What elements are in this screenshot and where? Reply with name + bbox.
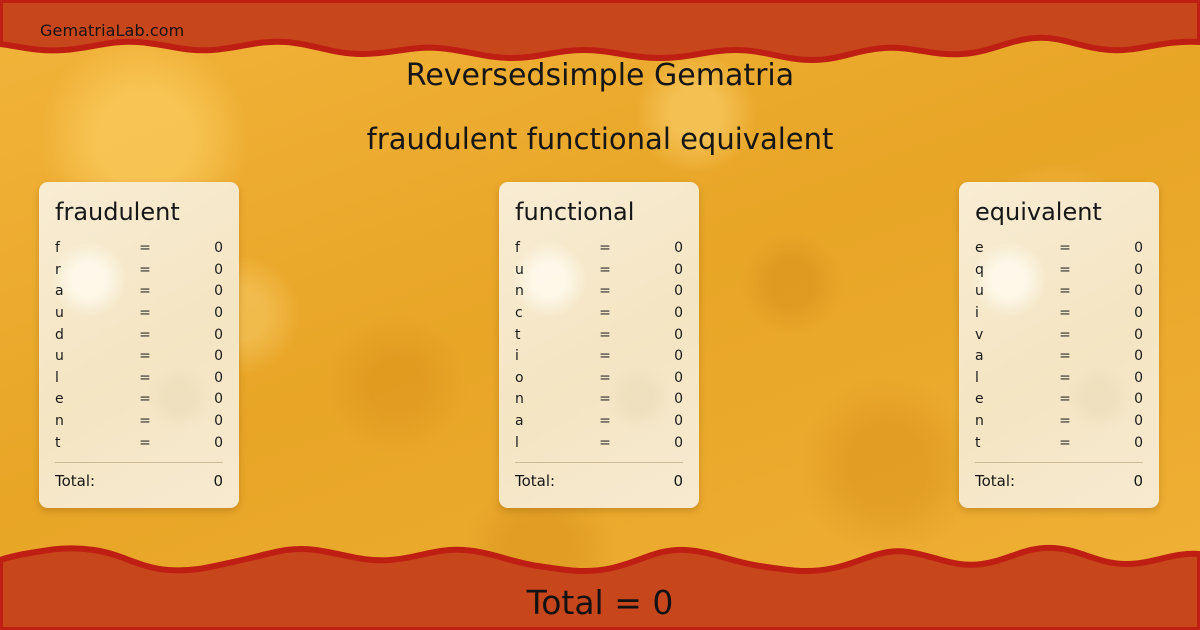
equals-sign: = xyxy=(1053,391,1077,407)
letter-row: l=0 xyxy=(515,432,683,454)
phrase-title: fraudulent functional equivalent xyxy=(0,122,1200,156)
letter-label: t xyxy=(515,327,593,343)
card-total-value: 0 xyxy=(1133,472,1143,490)
letter-label: o xyxy=(515,370,593,386)
word-card: functional f=0 u=0 n=0 c=0 t=0 i=0 o=0 n… xyxy=(499,182,699,508)
equals-sign: = xyxy=(593,305,617,321)
word-card-title: fraudulent xyxy=(39,182,239,225)
letter-value: 0 xyxy=(1077,240,1143,256)
word-card-list: fraudulent f=0 r=0 a=0 u=0 d=0 u=0 l=0 e… xyxy=(0,182,1200,516)
letter-row: u=0 xyxy=(55,302,223,324)
equals-sign: = xyxy=(133,327,157,343)
word-card: fraudulent f=0 r=0 a=0 u=0 d=0 u=0 l=0 e… xyxy=(39,182,239,508)
letter-label: n xyxy=(515,391,593,407)
letter-row: n=0 xyxy=(975,410,1143,432)
letter-label: f xyxy=(55,240,133,256)
letter-label: c xyxy=(515,305,593,321)
letter-label: u xyxy=(55,348,133,364)
letter-value: 0 xyxy=(157,240,223,256)
letter-label: e xyxy=(55,391,133,407)
letter-label: i xyxy=(515,348,593,364)
letter-row: a=0 xyxy=(515,410,683,432)
letter-row: a=0 xyxy=(975,345,1143,367)
letter-value: 0 xyxy=(1077,262,1143,278)
letter-label: e xyxy=(975,240,1053,256)
letter-row: u=0 xyxy=(975,281,1143,303)
card-total-value: 0 xyxy=(673,472,683,490)
letter-row: q=0 xyxy=(975,259,1143,281)
equals-sign: = xyxy=(133,370,157,386)
equals-sign: = xyxy=(133,262,157,278)
letter-label: v xyxy=(975,327,1053,343)
letter-value: 0 xyxy=(157,370,223,386)
letter-label: t xyxy=(975,435,1053,451)
equals-sign: = xyxy=(133,283,157,299)
letter-value: 0 xyxy=(617,391,683,407)
letter-row: d=0 xyxy=(55,324,223,346)
equals-sign: = xyxy=(1053,262,1077,278)
letter-row: l=0 xyxy=(55,367,223,389)
letter-value: 0 xyxy=(1077,413,1143,429)
letter-value-rows: f=0 r=0 a=0 u=0 d=0 u=0 l=0 e=0 n=0 t=0 xyxy=(55,237,223,453)
letter-value: 0 xyxy=(157,391,223,407)
letter-value: 0 xyxy=(617,327,683,343)
letter-value: 0 xyxy=(157,262,223,278)
equals-sign: = xyxy=(1053,305,1077,321)
equals-sign: = xyxy=(593,327,617,343)
letter-value: 0 xyxy=(1077,305,1143,321)
letter-label: a xyxy=(975,348,1053,364)
letter-label: l xyxy=(515,435,593,451)
equals-sign: = xyxy=(1053,327,1077,343)
letter-label: l xyxy=(55,370,133,386)
letter-value-rows: e=0 q=0 u=0 i=0 v=0 a=0 l=0 e=0 n=0 t=0 xyxy=(975,237,1143,453)
letter-value: 0 xyxy=(157,327,223,343)
letter-label: r xyxy=(55,262,133,278)
equals-sign: = xyxy=(133,413,157,429)
letter-label: f xyxy=(515,240,593,256)
equals-sign: = xyxy=(593,370,617,386)
letter-row: t=0 xyxy=(975,432,1143,454)
card-total-row: Total: 0 xyxy=(975,472,1143,508)
equals-sign: = xyxy=(133,391,157,407)
letter-value: 0 xyxy=(157,413,223,429)
card-divider xyxy=(55,462,223,463)
letter-value: 0 xyxy=(617,435,683,451)
letter-label: u xyxy=(975,283,1053,299)
card-total-value: 0 xyxy=(213,472,223,490)
equals-sign: = xyxy=(1053,413,1077,429)
card-total-row: Total: 0 xyxy=(55,472,223,508)
letter-row: e=0 xyxy=(55,389,223,411)
letter-value: 0 xyxy=(1077,348,1143,364)
letter-value: 0 xyxy=(617,348,683,364)
letter-label: n xyxy=(975,413,1053,429)
letter-value: 0 xyxy=(1077,283,1143,299)
cipher-title: Reversedsimple Gematria xyxy=(0,58,1200,93)
card-total-label: Total: xyxy=(975,472,1133,490)
letter-value: 0 xyxy=(1077,327,1143,343)
letter-row: v=0 xyxy=(975,324,1143,346)
letter-label: e xyxy=(975,391,1053,407)
letter-row: i=0 xyxy=(975,302,1143,324)
letter-value: 0 xyxy=(157,283,223,299)
letter-row: l=0 xyxy=(975,367,1143,389)
letter-value: 0 xyxy=(1077,370,1143,386)
card-divider xyxy=(975,462,1143,463)
letter-label: a xyxy=(515,413,593,429)
letter-value: 0 xyxy=(157,435,223,451)
card-total-label: Total: xyxy=(515,472,673,490)
letter-label: i xyxy=(975,305,1053,321)
equals-sign: = xyxy=(1053,240,1077,256)
equals-sign: = xyxy=(133,348,157,364)
letter-value: 0 xyxy=(617,370,683,386)
letter-row: o=0 xyxy=(515,367,683,389)
equals-sign: = xyxy=(133,305,157,321)
letter-label: n xyxy=(515,283,593,299)
letter-label: q xyxy=(975,262,1053,278)
equals-sign: = xyxy=(593,435,617,451)
letter-row: f=0 xyxy=(515,237,683,259)
letter-row: e=0 xyxy=(975,237,1143,259)
letter-value: 0 xyxy=(1077,435,1143,451)
letter-label: u xyxy=(515,262,593,278)
letter-label: l xyxy=(975,370,1053,386)
letter-value: 0 xyxy=(157,305,223,321)
letter-value: 0 xyxy=(617,283,683,299)
letter-value: 0 xyxy=(617,262,683,278)
letter-row: a=0 xyxy=(55,281,223,303)
letter-row: r=0 xyxy=(55,259,223,281)
letter-label: u xyxy=(55,305,133,321)
letter-value: 0 xyxy=(157,348,223,364)
letter-value: 0 xyxy=(617,240,683,256)
letter-value: 0 xyxy=(1077,391,1143,407)
letter-label: d xyxy=(55,327,133,343)
card-total-row: Total: 0 xyxy=(515,472,683,508)
letter-row: n=0 xyxy=(55,410,223,432)
letter-row: u=0 xyxy=(55,345,223,367)
letter-label: a xyxy=(55,283,133,299)
letter-row: u=0 xyxy=(515,259,683,281)
equals-sign: = xyxy=(593,391,617,407)
card-divider xyxy=(515,462,683,463)
letter-row: i=0 xyxy=(515,345,683,367)
word-card: equivalent e=0 q=0 u=0 i=0 v=0 a=0 l=0 e… xyxy=(959,182,1159,508)
letter-label: t xyxy=(55,435,133,451)
card-total-label: Total: xyxy=(55,472,213,490)
letter-row: n=0 xyxy=(515,281,683,303)
equals-sign: = xyxy=(1053,370,1077,386)
equals-sign: = xyxy=(593,348,617,364)
letter-value: 0 xyxy=(617,413,683,429)
letter-label: n xyxy=(55,413,133,429)
letter-row: c=0 xyxy=(515,302,683,324)
equals-sign: = xyxy=(593,240,617,256)
letter-row: e=0 xyxy=(975,389,1143,411)
word-card-title: equivalent xyxy=(959,182,1159,225)
letter-value-rows: f=0 u=0 n=0 c=0 t=0 i=0 o=0 n=0 a=0 l=0 xyxy=(515,237,683,453)
letter-row: t=0 xyxy=(515,324,683,346)
letter-value: 0 xyxy=(617,305,683,321)
word-card-title: functional xyxy=(499,182,699,225)
equals-sign: = xyxy=(1053,435,1077,451)
letter-row: f=0 xyxy=(55,237,223,259)
site-brand[interactable]: GematriaLab.com xyxy=(40,21,184,40)
letter-row: t=0 xyxy=(55,432,223,454)
equals-sign: = xyxy=(593,262,617,278)
equals-sign: = xyxy=(1053,283,1077,299)
equals-sign: = xyxy=(593,413,617,429)
equals-sign: = xyxy=(133,435,157,451)
equals-sign: = xyxy=(1053,348,1077,364)
letter-row: n=0 xyxy=(515,389,683,411)
gematria-result-card: GematriaLab.com Reversedsimple Gematria … xyxy=(0,0,1200,630)
equals-sign: = xyxy=(593,283,617,299)
grand-total: Total = 0 xyxy=(0,583,1200,622)
equals-sign: = xyxy=(133,240,157,256)
